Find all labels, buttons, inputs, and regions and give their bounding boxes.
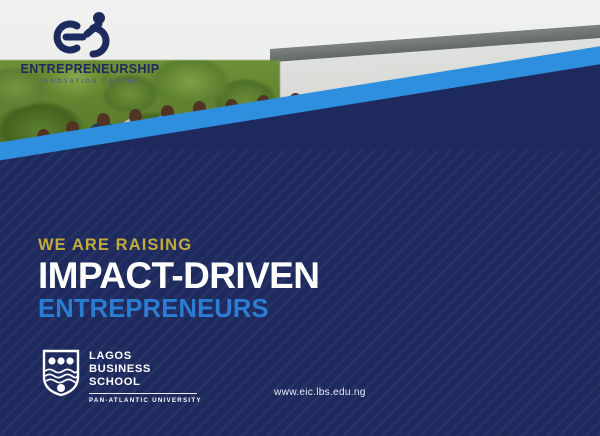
headline-subtitle: ENTREPRENEURS — [38, 296, 319, 323]
eic-logo-name: ENTREPRENEURSHIP — [20, 62, 160, 76]
lbs-wordmark: LAGOS BUSINESS SCHOOL PAN-ATLANTIC UNIVE… — [89, 349, 202, 404]
lbs-divider — [89, 393, 197, 394]
lbs-university-name: PAN-ATLANTIC UNIVERSITY — [89, 397, 202, 404]
eic-logo: ENTREPRENEURSHIP INNOVATION CENTRE — [20, 10, 160, 85]
lbs-line-2: BUSINESS — [89, 363, 202, 376]
promotional-banner: ENTREPRENEURSHIP INNOVATION CENTRE WE AR… — [0, 0, 600, 436]
headline-kicker: WE ARE RAISING — [38, 236, 319, 255]
lbs-shield-icon — [42, 349, 80, 397]
eic-logo-subtitle: INNOVATION CENTRE — [20, 78, 160, 85]
lbs-line-1: LAGOS — [89, 350, 202, 363]
headline-block: WE ARE RAISING IMPACT-DRIVEN ENTREPRENEU… — [38, 236, 319, 323]
eic-monogram-icon — [53, 10, 127, 58]
website-url[interactable]: www.eic.lbs.edu.ng — [274, 387, 366, 398]
lbs-line-3: SCHOOL — [89, 376, 202, 389]
lagos-business-school-logo: LAGOS BUSINESS SCHOOL PAN-ATLANTIC UNIVE… — [42, 349, 202, 404]
headline-title: IMPACT-DRIVEN — [38, 257, 319, 295]
